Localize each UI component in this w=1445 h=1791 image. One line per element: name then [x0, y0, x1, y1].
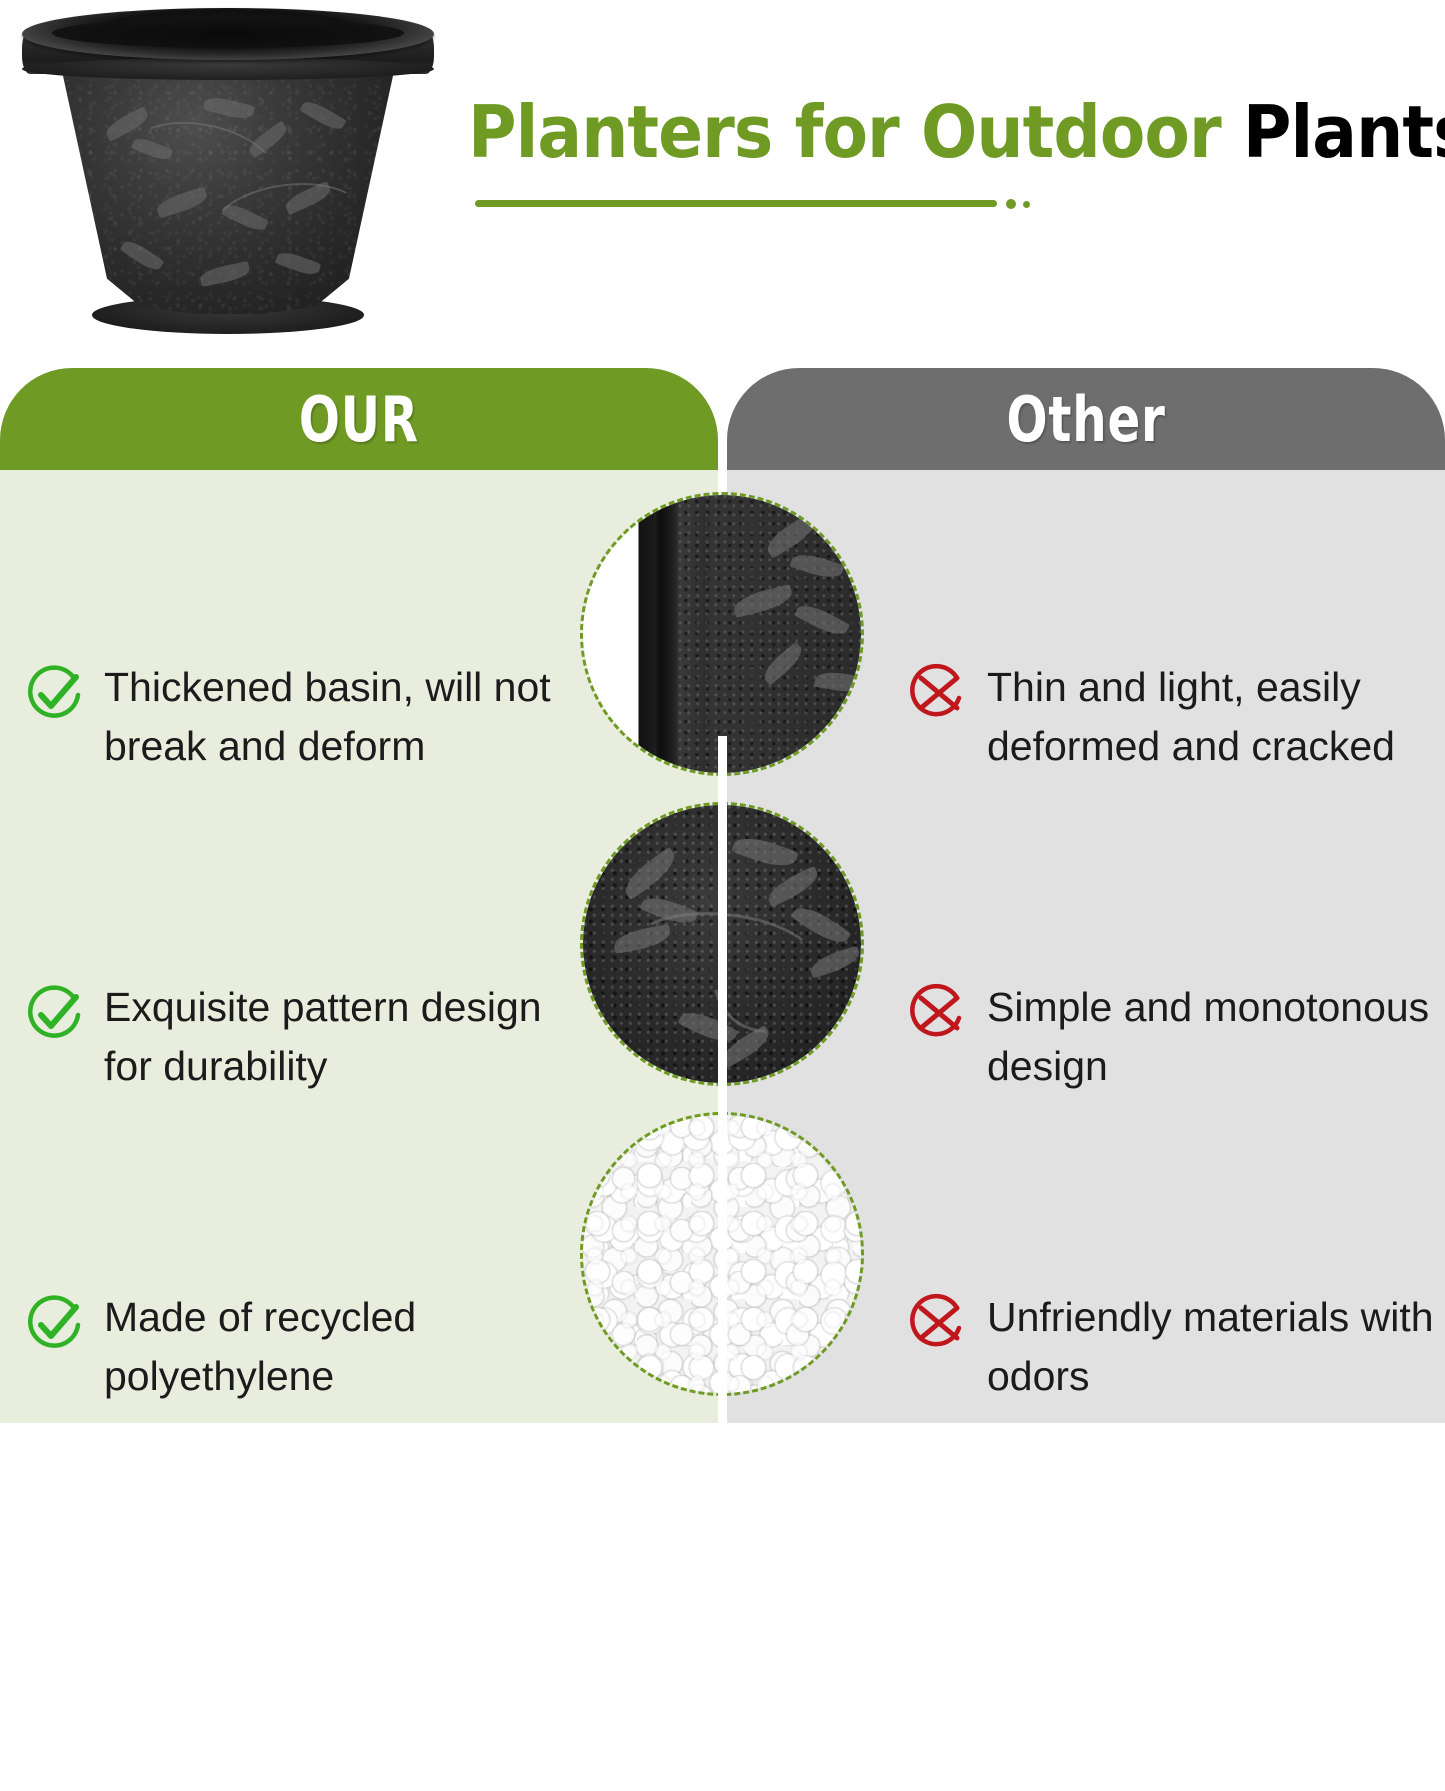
our-header-label: OUR [299, 383, 419, 456]
other-feature-text: Simple and monotonous design [987, 978, 1445, 1097]
planter-opening [52, 18, 404, 48]
check-circle-icon [24, 1294, 86, 1356]
check-circle-icon [24, 984, 86, 1046]
our-feature-text: Thickened basin, will not break and defo… [104, 658, 584, 777]
our-column-header: OUR [0, 368, 718, 470]
hero-section: Planters for Outdoor Plants [0, 0, 1445, 368]
title-highlight: Planters for Outdoor [468, 90, 1221, 174]
our-column-body: Thickened basin, will not break and defo… [0, 470, 718, 1423]
cross-circle-icon [907, 664, 969, 726]
cross-circle-icon [907, 1294, 969, 1356]
column-divider [718, 736, 727, 1791]
title-dot-small-icon [1023, 201, 1030, 208]
other-feature-item: Simple and monotonous design [907, 978, 1445, 1097]
other-column-header: Other [727, 368, 1445, 470]
our-column: OUR Thickened basin, will not break and … [0, 368, 718, 1423]
other-feature-text: Unfriendly materials with odors [987, 1288, 1445, 1407]
our-feature-text: Made of recycled polyethylene [104, 1288, 584, 1407]
our-feature-item: Exquisite pattern design for durability [24, 978, 584, 1097]
our-feature-item: Thickened basin, will not break and defo… [24, 658, 584, 777]
cross-circle-icon [907, 984, 969, 1046]
title-plain: Plants [1243, 90, 1445, 174]
our-feature-text: Exquisite pattern design for durability [104, 978, 584, 1097]
other-feature-item: Unfriendly materials with odors [907, 1288, 1445, 1407]
title-dot-large-icon [1006, 199, 1016, 209]
check-circle-icon [24, 664, 86, 726]
other-column: Other Thin and light, easily deformed an… [727, 368, 1445, 1423]
other-header-label: Other [1006, 383, 1165, 456]
other-feature-text: Thin and light, easily deformed and crac… [987, 658, 1445, 777]
page-title: Planters for Outdoor Plants [468, 96, 1418, 226]
comparison-section: OUR Thickened basin, will not break and … [0, 368, 1445, 1423]
our-feature-item: Made of recycled polyethylene [24, 1288, 584, 1407]
product-photo-planter [8, 4, 448, 356]
other-feature-item: Thin and light, easily deformed and crac… [907, 658, 1445, 777]
other-column-body: Thin and light, easily deformed and crac… [727, 470, 1445, 1423]
title-underline [475, 200, 997, 207]
